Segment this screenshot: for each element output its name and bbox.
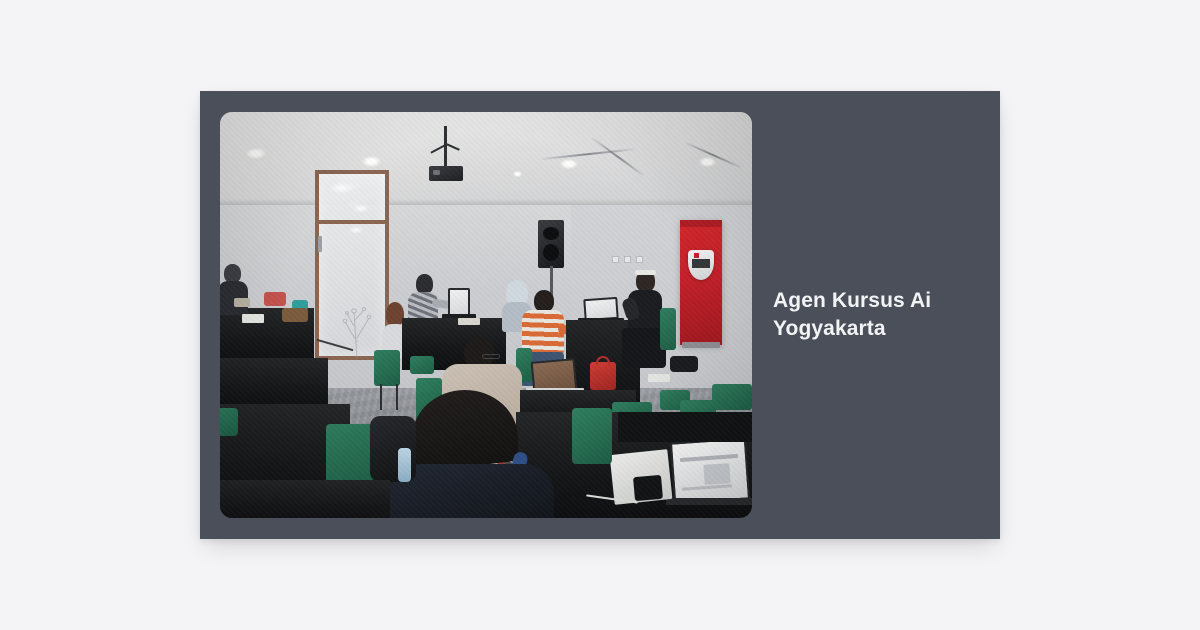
photo-scene	[220, 112, 752, 518]
content-card: Agen Kursus Ai Yogyakarta	[200, 91, 1000, 539]
card-text-panel: Agen Kursus Ai Yogyakarta	[752, 111, 980, 519]
photo-grain	[220, 112, 752, 518]
training-room-photo	[220, 112, 752, 518]
page-title: Agen Kursus Ai Yogyakarta	[773, 287, 956, 343]
